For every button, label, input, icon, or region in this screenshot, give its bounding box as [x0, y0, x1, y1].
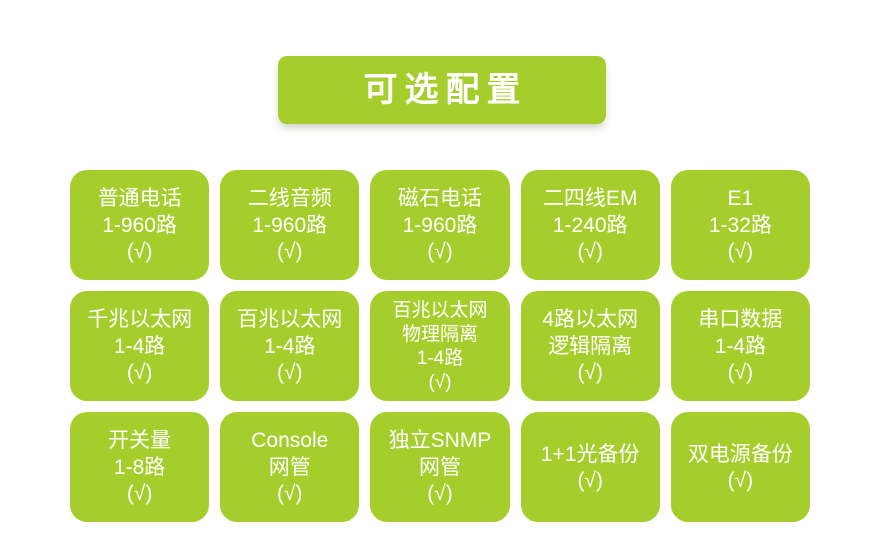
config-option-line: 1-4路 [114, 333, 165, 360]
config-option-cell[interactable]: 二四线EM1-240路(√) [521, 170, 660, 280]
config-option-line: 百兆以太网 [237, 306, 342, 333]
config-option-line: 1-960路 [252, 212, 327, 239]
config-option-line: 开关量 [108, 427, 171, 454]
config-option-cell[interactable]: 百兆以太网物理隔离1-4路(√) [370, 291, 509, 401]
availability-check-mark: (√) [127, 360, 153, 386]
availability-check-mark: (√) [127, 481, 153, 507]
availability-check-mark: (√) [728, 468, 754, 494]
optional-configuration-page: 可选配置 普通电话1-960路(√)二线音频1-960路(√)磁石电话1-960… [0, 0, 880, 560]
availability-check-mark: (√) [127, 239, 153, 265]
availability-check-mark: (√) [277, 481, 303, 507]
config-option-line: 二四线EM [543, 185, 638, 212]
config-option-line: 1+1光备份 [541, 441, 640, 468]
config-option-line: 1-960路 [102, 212, 177, 239]
config-option-line: 千兆以太网 [87, 306, 192, 333]
config-option-line: 1-4路 [715, 333, 766, 360]
config-option-cell[interactable]: E11-32路(√) [671, 170, 810, 280]
section-banner: 可选配置 [278, 56, 606, 124]
config-option-line: 1-240路 [553, 212, 628, 239]
config-option-line: 二线音频 [248, 185, 332, 212]
config-option-cell[interactable]: 1+1光备份(√) [521, 412, 660, 522]
config-option-line: 串口数据 [698, 306, 782, 333]
config-option-line: 网管 [419, 454, 461, 481]
availability-check-mark: (√) [277, 360, 303, 386]
config-option-line: 1-4路 [264, 333, 315, 360]
availability-check-mark: (√) [728, 360, 754, 386]
config-option-cell[interactable]: 二线音频1-960路(√) [220, 170, 359, 280]
config-option-line: 双电源备份 [688, 441, 793, 468]
config-option-line: 1-960路 [403, 212, 478, 239]
config-option-line: 普通电话 [98, 185, 182, 212]
config-option-cell[interactable]: 开关量1-8路(√) [70, 412, 209, 522]
availability-check-mark: (√) [577, 468, 603, 494]
config-option-line: 独立SNMP [389, 427, 492, 454]
availability-check-mark: (√) [427, 239, 453, 265]
config-option-cell[interactable]: 4路以太网逻辑隔离(√) [521, 291, 660, 401]
config-option-cell[interactable]: 磁石电话1-960路(√) [370, 170, 509, 280]
config-option-line: 4路以太网 [542, 306, 638, 333]
config-option-cell[interactable]: Console网管(√) [220, 412, 359, 522]
config-option-line: 逻辑隔离 [548, 333, 632, 360]
config-option-line: 百兆以太网 [392, 299, 487, 323]
config-option-line: 1-32路 [709, 212, 772, 239]
config-option-line: 网管 [269, 454, 311, 481]
availability-check-mark: (√) [428, 371, 451, 394]
config-option-cell[interactable]: 双电源备份(√) [671, 412, 810, 522]
config-option-line: 1-4路 [417, 347, 463, 371]
config-option-line: 物理隔离 [402, 323, 478, 347]
config-option-line: 1-8路 [114, 454, 165, 481]
banner-shape: 可选配置 [278, 56, 606, 124]
availability-check-mark: (√) [427, 481, 453, 507]
config-option-line: E1 [728, 185, 754, 212]
config-option-cell[interactable]: 串口数据1-4路(√) [671, 291, 810, 401]
config-option-line: Console [251, 427, 328, 454]
availability-check-mark: (√) [277, 239, 303, 265]
config-option-cell[interactable]: 独立SNMP网管(√) [370, 412, 509, 522]
config-option-line: 磁石电话 [398, 185, 482, 212]
config-option-cell[interactable]: 普通电话1-960路(√) [70, 170, 209, 280]
availability-check-mark: (√) [577, 360, 603, 386]
configuration-grid: 普通电话1-960路(√)二线音频1-960路(√)磁石电话1-960路(√)二… [70, 170, 810, 522]
page-title: 可选配置 [357, 73, 528, 107]
config-option-cell[interactable]: 百兆以太网1-4路(√) [220, 291, 359, 401]
config-option-cell[interactable]: 千兆以太网1-4路(√) [70, 291, 209, 401]
availability-check-mark: (√) [728, 239, 754, 265]
availability-check-mark: (√) [577, 239, 603, 265]
